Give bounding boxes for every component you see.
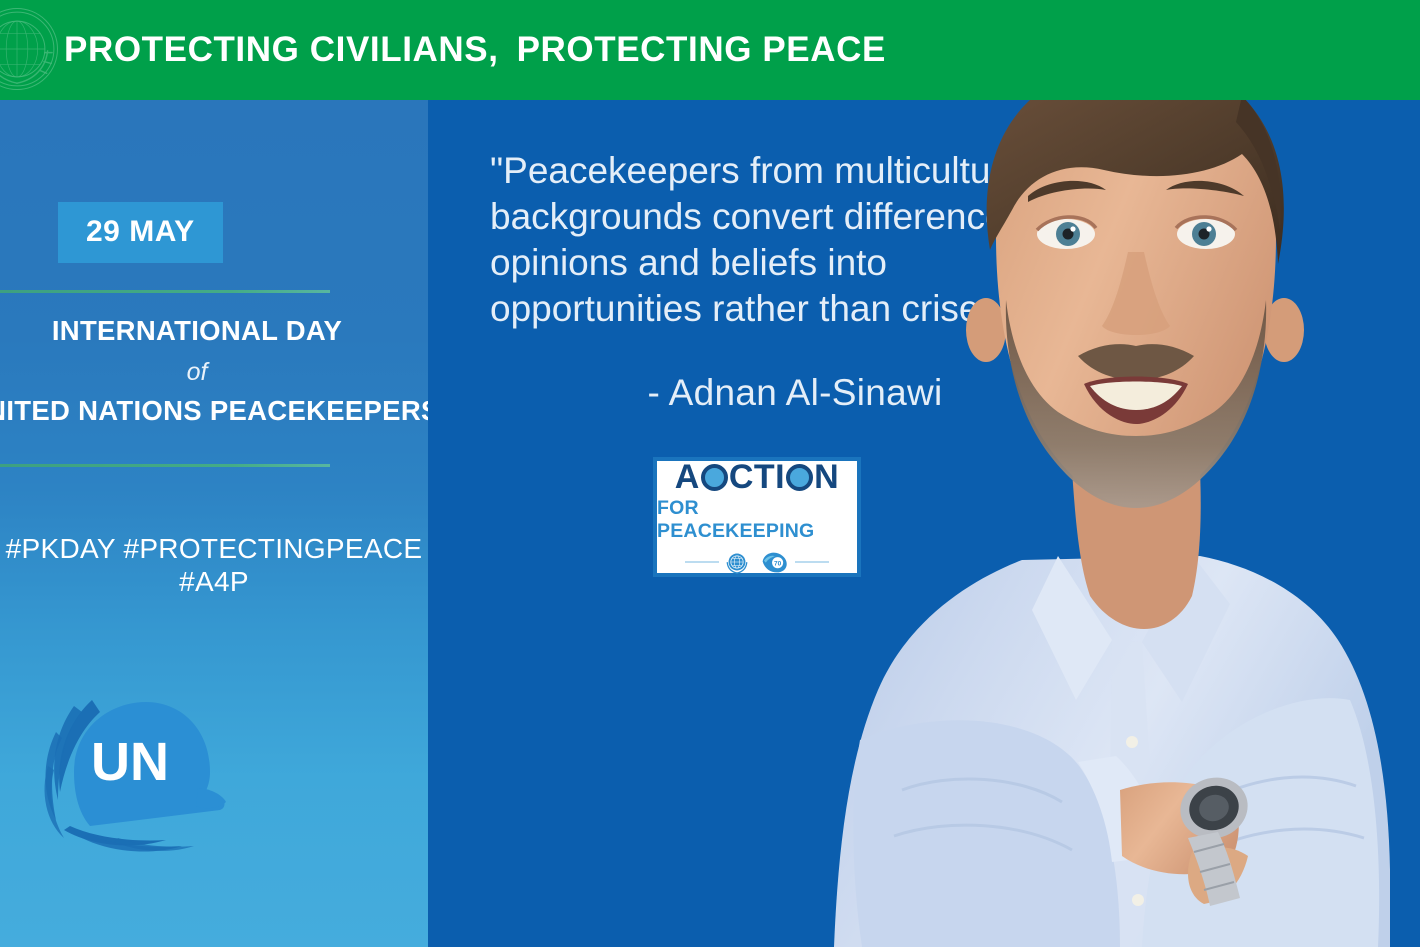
a4p-letter-n: N [814, 460, 839, 494]
un-logo-text: UN [91, 732, 169, 792]
a4p-subtitle: FOR PEACEKEEPING [657, 497, 857, 543]
svg-text:70: 70 [774, 560, 782, 567]
un-peacekeeping-seal-icon [0, 4, 62, 94]
main-panel: "Peacekeepers from multicultural backgro… [428, 100, 1420, 947]
divider-top [0, 290, 330, 293]
page-title: PROTECTING CIVILIANS, PROTECTING PEACE [64, 0, 886, 100]
sidebar-title-of: of [0, 358, 428, 387]
dove-70-anniversary-icon: 70 [760, 550, 790, 574]
a4p-circle-o-second-icon [786, 464, 813, 491]
quote-text: "Peacekeepers from multicultural backgro… [490, 148, 1100, 332]
a4p-letters-cti: CTI [729, 460, 785, 494]
sidebar-title-line-2: UNITED NATIONS PEACEKEEPERS [0, 395, 428, 427]
a4p-rule-left [685, 561, 719, 563]
quote-author: - Adnan Al-Sinawi [490, 372, 1100, 414]
poster-canvas: PROTECTING CIVILIANS, PROTECTING PEACE "… [0, 0, 1420, 947]
sidebar: 29 MAY INTERNATIONAL DAY of UNITED NATIO… [0, 100, 428, 947]
un-globe-laurel-emblem-icon [724, 549, 750, 575]
divider-bottom [0, 464, 330, 467]
a4p-wordmark: A CTI N [675, 460, 839, 494]
action-for-peacekeeping-logo: A CTI N FOR PEACEKEEPING [653, 457, 861, 577]
a4p-rule-right [795, 561, 829, 563]
hashtags: #PKDAY #PROTECTINGPEACE #A4P [0, 532, 428, 598]
olive-branch-bottom-icon [64, 826, 194, 852]
header-title-line-2: PROTECTING PEACE [517, 30, 886, 70]
header-band: PROTECTING CIVILIANS, PROTECTING PEACE [0, 0, 1420, 100]
un-peacekeeping-helmet-logo: UN [30, 680, 240, 855]
date-badge: 29 MAY [58, 202, 223, 263]
a4p-emblem-row: 70 [685, 549, 829, 575]
header-title-line-1: PROTECTING CIVILIANS, [64, 30, 499, 70]
sidebar-title-line-1: INTERNATIONAL DAY [0, 315, 428, 347]
a4p-circle-o-first-icon [701, 464, 728, 491]
sidebar-title: INTERNATIONAL DAY of UNITED NATIONS PEAC… [0, 315, 428, 427]
a4p-letter-a: A [675, 460, 700, 494]
